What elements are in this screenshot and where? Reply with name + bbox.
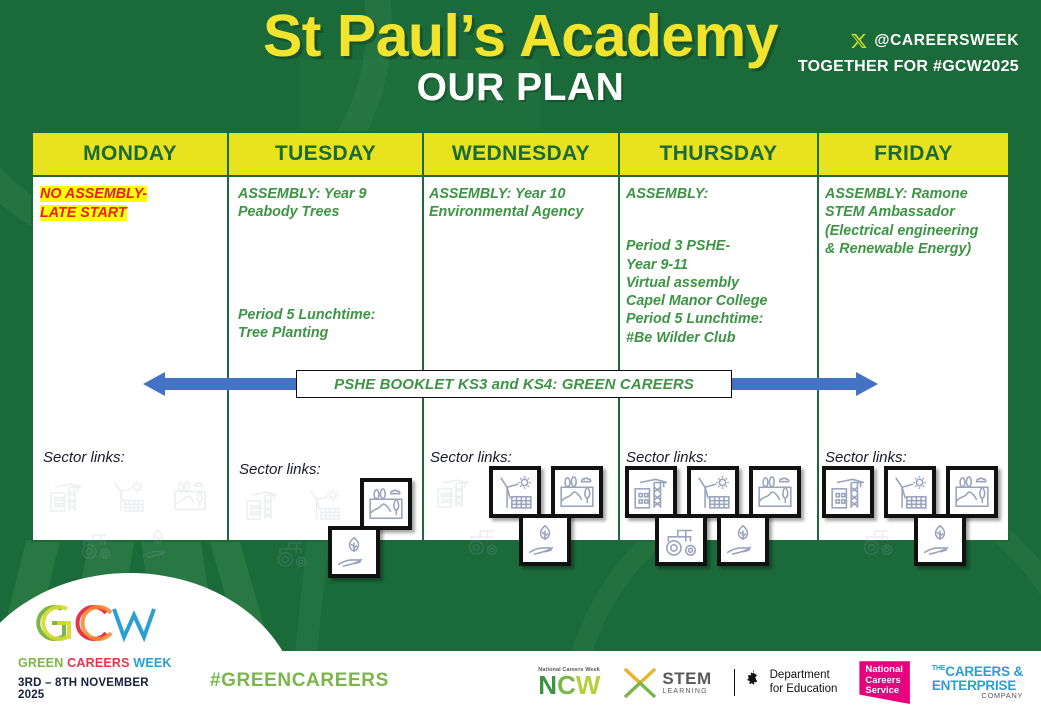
tuesday-event-line-4: Tree Planting: [238, 324, 417, 342]
column-header-wednesday: WEDNESDAY: [424, 133, 620, 177]
tuesday-event-line-3: Period 5 Lunchtime:: [238, 306, 417, 324]
sector-links-label-monday: Sector links:: [43, 449, 125, 466]
gcw-word-careers: CAREERS: [67, 656, 130, 670]
thursday-events: ASSEMBLY: Period 3 PSHE- Year 9-11 Virtu…: [626, 185, 812, 347]
sector-icons-wednesday: [428, 469, 618, 531]
wednesday-events: ASSEMBLY: Year 10 Environmental Agency: [429, 185, 613, 222]
tuesday-events: ASSEMBLY: Year 9 Peabody Trees Period 5 …: [238, 185, 417, 342]
monday-alert: NO ASSEMBLY- LATE START: [40, 185, 147, 222]
wednesday-event-line-1: ASSEMBLY: Year 10: [429, 185, 613, 203]
logo-careers-enterprise-company: THECAREERS & ENTERPRISE COMPANY: [932, 665, 1023, 700]
hashtag-greencareers: #GREENCAREERS: [210, 670, 389, 692]
day-cell-wednesday: ASSEMBLY: Year 10 Environmental Agency S…: [424, 177, 620, 540]
agriculture-tractor-icon: [855, 517, 901, 563]
renewable-energy-icon: [105, 473, 151, 519]
cec-line-3: COMPANY: [932, 692, 1023, 700]
ncs-line-3: Service: [865, 686, 902, 696]
social-block: @CAREERSWEEK TOGETHER FOR #GCW2025: [798, 32, 1019, 76]
thursday-event-line-6: Period 5 Lunchtime:: [626, 310, 812, 328]
column-header-thursday: THURSDAY: [620, 133, 819, 177]
cec-line-2: ENTERPRISE: [932, 679, 1023, 693]
table-body-row: NO ASSEMBLY- LATE START Sector links:: [33, 177, 1008, 540]
x-twitter-icon: [850, 33, 867, 50]
stem-wordmark: STEM LEARNING: [662, 670, 711, 695]
gcw-wordmark: GREEN CAREERS WEEK: [18, 656, 178, 670]
sector-icons-thursday: [626, 469, 816, 531]
dfe-crest-icon: [742, 669, 764, 696]
ncw-letter-n: N: [538, 670, 557, 700]
gcw-word-week: WEEK: [133, 656, 171, 670]
social-handle-text: @CAREERSWEEK: [874, 32, 1019, 50]
dfe-wordmark: Department for Education: [770, 669, 838, 695]
weekly-plan-table: MONDAY TUESDAY WEDNESDAY THURSDAY FRIDAY…: [31, 131, 1010, 542]
thursday-event-line-1: ASSEMBLY:: [626, 185, 812, 203]
agriculture-tractor-icon: [269, 529, 315, 575]
dfe-line-1: Department: [770, 669, 838, 682]
nature-landscape-icon[interactable]: [749, 466, 801, 518]
ncw-letter-c: C: [557, 670, 576, 700]
monday-alert-line-2: LATE START: [40, 205, 127, 221]
hand-leaf-icon[interactable]: [328, 526, 380, 578]
cec-prefix: THE: [932, 665, 945, 672]
logo-dfe: Department for Education: [734, 669, 838, 696]
sector-links-label-friday: Sector links:: [825, 449, 907, 466]
gcw-dates: 3RD – 8TH NOVEMBER 2025: [18, 677, 178, 701]
stem-x-icon: [622, 666, 658, 700]
thursday-event-line-2: Period 3 PSHE-: [626, 237, 812, 255]
thursday-event-line-3: Year 9-11: [626, 256, 812, 274]
stem-line-2: LEARNING: [662, 688, 711, 695]
sector-icons-monday: [41, 473, 231, 535]
pshe-booklet-label: PSHE BOOKLET KS3 and KS4: GREEN CAREERS: [334, 376, 694, 393]
ncs-line-1: National: [865, 665, 902, 675]
sector-links-label-thursday: Sector links:: [626, 449, 708, 466]
friday-events: ASSEMBLY: Ramone STEM Ambassador (Electr…: [825, 185, 1006, 258]
day-cell-tuesday: ASSEMBLY: Year 9 Peabody Trees Period 5 …: [229, 177, 424, 540]
agriculture-tractor-icon[interactable]: [655, 514, 707, 566]
day-cell-monday: NO ASSEMBLY- LATE START Sector links:: [33, 177, 229, 540]
day-cell-thursday: ASSEMBLY: Period 3 PSHE- Year 9-11 Virtu…: [620, 177, 819, 540]
sector-links-label-tuesday: Sector links:: [239, 461, 321, 478]
dfe-line-2: for Education: [770, 683, 838, 696]
tuesday-event-line-1: ASSEMBLY: Year 9: [238, 185, 417, 203]
friday-event-line-4: & Renewable Energy): [825, 240, 1006, 258]
logo-national-careers-service: National Careers Service: [859, 661, 909, 704]
thursday-event-line-5: Capel Manor College: [626, 292, 812, 310]
hand-leaf-icon: [135, 521, 181, 567]
construction-icon: [430, 469, 476, 515]
column-header-tuesday: TUESDAY: [229, 133, 424, 177]
nature-landscape-icon[interactable]: [946, 466, 998, 518]
pshe-booklet-banner: PSHE BOOKLET KS3 and KS4: GREEN CAREERS: [296, 370, 732, 398]
stem-line-1: STEM: [662, 670, 711, 687]
agriculture-tractor-icon: [460, 517, 506, 563]
construction-icon[interactable]: [822, 466, 874, 518]
friday-event-line-2: STEM Ambassador: [825, 203, 1006, 221]
friday-event-line-3: (Electrical engineering: [825, 222, 1006, 240]
thursday-event-line-7: #Be Wilder Club: [626, 329, 812, 347]
friday-event-line-1: ASSEMBLY: Ramone: [825, 185, 1006, 203]
gcw-logo-letters: [18, 597, 168, 649]
cec-line-1-row: THECAREERS &: [932, 665, 1023, 679]
nature-landscape-icon[interactable]: [360, 478, 412, 530]
social-handle-row: @CAREERSWEEK: [798, 32, 1019, 50]
monday-alert-line-1: NO ASSEMBLY-: [40, 186, 147, 202]
ncw-letters: NCW: [538, 674, 600, 697]
day-cell-friday: ASSEMBLY: Ramone STEM Ambassador (Electr…: [819, 177, 1008, 540]
sector-icons-friday: [823, 469, 1013, 531]
renewable-energy-icon: [301, 481, 347, 527]
nature-landscape-icon: [167, 473, 213, 519]
social-tagline: TOGETHER FOR #GCW2025: [798, 58, 1019, 76]
hand-leaf-icon[interactable]: [717, 514, 769, 566]
ncw-letter-w: W: [576, 670, 601, 700]
gcw-logo: GREEN CAREERS WEEK 3RD – 8TH NOVEMBER 20…: [18, 597, 178, 701]
renewable-energy-icon[interactable]: [884, 466, 936, 518]
nature-landscape-icon[interactable]: [551, 466, 603, 518]
thursday-event-line-4: Virtual assembly: [626, 274, 812, 292]
renewable-energy-icon[interactable]: [489, 466, 541, 518]
tuesday-event-line-2: Peabody Trees: [238, 203, 417, 221]
column-header-friday: FRIDAY: [819, 133, 1008, 177]
wednesday-event-line-2: Environmental Agency: [429, 203, 613, 221]
logo-ncw: National Careers Week NCW: [538, 667, 600, 697]
sector-icons-tuesday: [237, 481, 427, 543]
table-header-row: MONDAY TUESDAY WEDNESDAY THURSDAY FRIDAY: [33, 133, 1008, 177]
agriculture-tractor-icon: [73, 521, 119, 567]
page-header: St Paul’s Academy OUR PLAN @CAREERSWEEK …: [0, 0, 1041, 126]
partner-logos: National Careers Week NCW STEM LEARNING …: [538, 661, 1023, 704]
construction-icon[interactable]: [625, 466, 677, 518]
hand-leaf-icon[interactable]: [519, 514, 571, 566]
construction-icon: [43, 473, 89, 519]
construction-icon: [239, 481, 285, 527]
logo-stem-learning: STEM LEARNING: [622, 666, 711, 700]
renewable-energy-icon[interactable]: [687, 466, 739, 518]
hand-leaf-icon[interactable]: [914, 514, 966, 566]
column-header-monday: MONDAY: [33, 133, 229, 177]
sector-links-label-wednesday: Sector links:: [430, 449, 512, 466]
gcw-word-green: GREEN: [18, 656, 63, 670]
